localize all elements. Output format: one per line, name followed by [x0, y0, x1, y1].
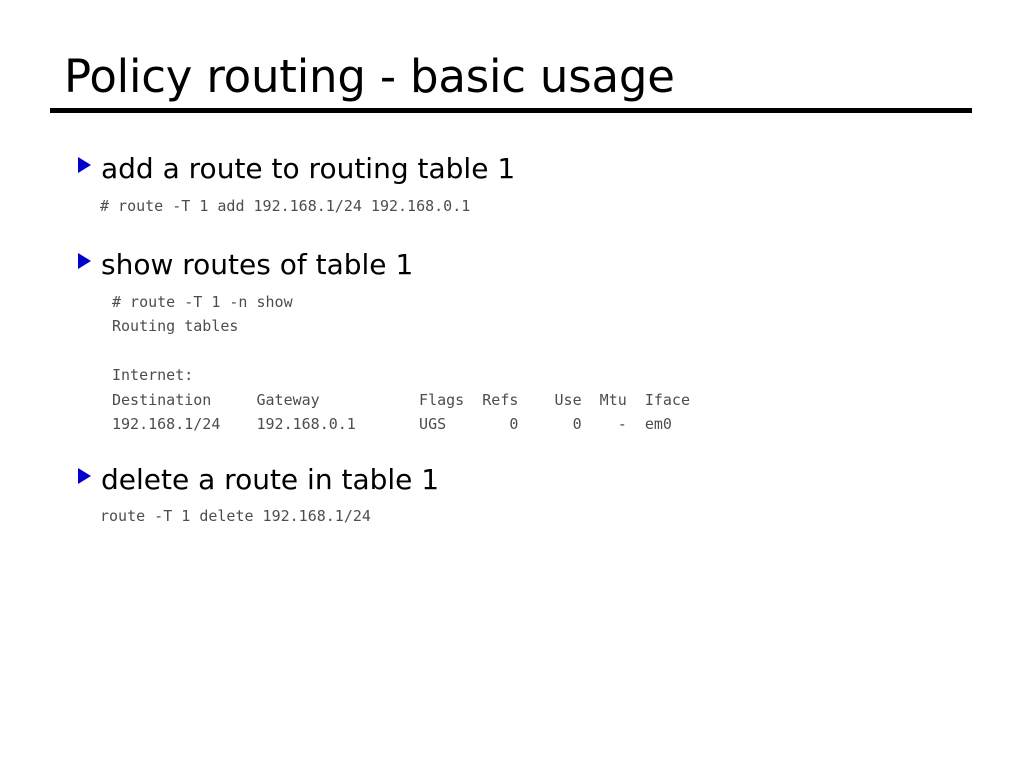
- bullet-item-add-route[interactable]: add a route to routing table 1: [0, 152, 1024, 186]
- slide-canvas: Policy routing - basic usage add a route…: [0, 0, 1024, 768]
- bullet-item-delete-route[interactable]: delete a route in table 1: [0, 463, 1024, 497]
- bullet-group-show-routes: show routes of table 1 # route -T 1 -n s…: [0, 248, 1024, 437]
- triangle-right-icon: [78, 468, 91, 484]
- route-table-header-row: Destination Gateway Flags Refs Use Mtu I…: [0, 388, 1024, 413]
- spacer: [0, 437, 1024, 463]
- bullet-label-add-route: add a route to routing table 1: [101, 152, 515, 186]
- code-blank-line: [0, 339, 1024, 364]
- title-underline-rule: [50, 108, 972, 113]
- bullet-item-show-routes[interactable]: show routes of table 1: [0, 248, 1024, 282]
- spacer: [0, 282, 1024, 290]
- triangle-right-icon: [78, 157, 91, 173]
- bullet-label-show-routes: show routes of table 1: [101, 248, 413, 282]
- code-block-add-route: # route -T 1 add 192.168.1/24 192.168.0.…: [0, 194, 1024, 219]
- route-table-row: 192.168.1/24 192.168.0.1 UGS 0 0 - em0: [0, 412, 1024, 437]
- title-block: Policy routing - basic usage: [50, 52, 972, 113]
- code-command-show-routes: # route -T 1 -n show: [0, 290, 1024, 315]
- bullet-label-delete-route: delete a route in table 1: [101, 463, 439, 497]
- spacer: [0, 218, 1024, 248]
- page-title: Policy routing - basic usage: [50, 52, 972, 102]
- bullet-group-delete-route: delete a route in table 1 route -T 1 del…: [0, 463, 1024, 529]
- code-output-section-internet: Internet:: [0, 363, 1024, 388]
- spacer: [0, 186, 1024, 194]
- code-block-delete-route: route -T 1 delete 192.168.1/24: [0, 504, 1024, 529]
- bullet-group-add-route: add a route to routing table 1 # route -…: [0, 152, 1024, 218]
- spacer: [0, 496, 1024, 504]
- slide-body: add a route to routing table 1 # route -…: [0, 152, 1024, 529]
- triangle-right-icon: [78, 253, 91, 269]
- code-output-routing-tables: Routing tables: [0, 314, 1024, 339]
